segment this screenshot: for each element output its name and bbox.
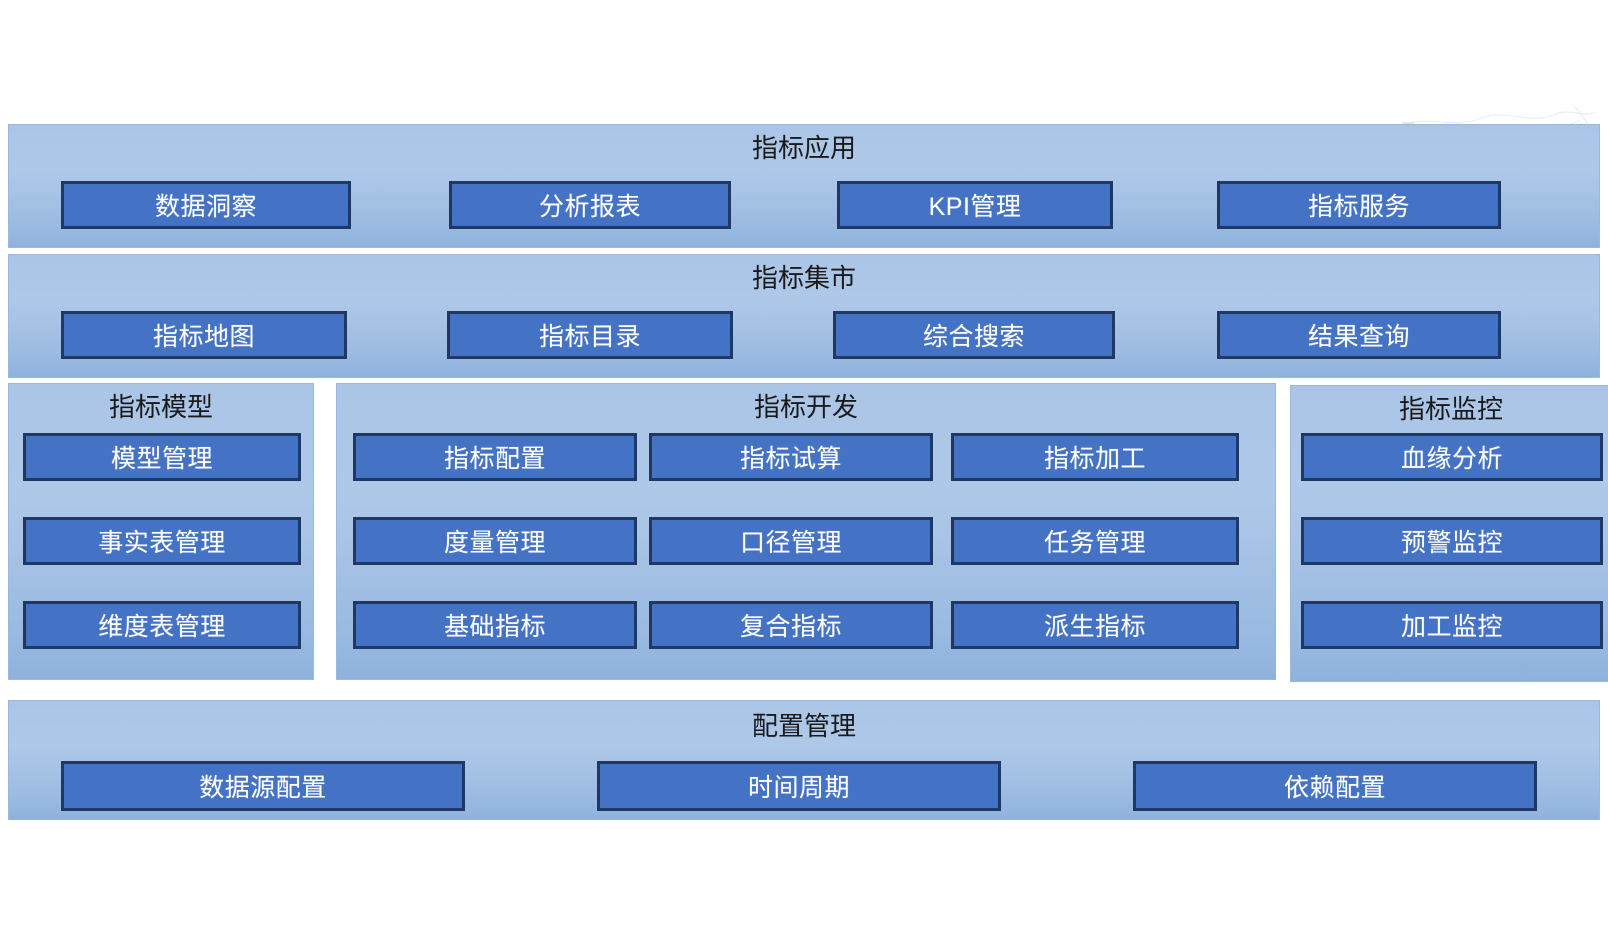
- app-item-analysis-report[interactable]: 分析报表: [449, 181, 731, 229]
- mart-item-result-query[interactable]: 结果查询: [1217, 311, 1501, 359]
- model-item-model-management[interactable]: 模型管理: [23, 433, 301, 481]
- layer-monitoring: 指标监控 血缘分析 预警监控 加工监控: [1290, 385, 1608, 682]
- dev-item-indicator-processing[interactable]: 指标加工: [951, 433, 1239, 481]
- dev-item-measure-management[interactable]: 度量管理: [353, 517, 637, 565]
- layer-mart-title: 指标集市: [9, 263, 1599, 293]
- app-item-indicator-service[interactable]: 指标服务: [1217, 181, 1501, 229]
- model-item-fact-table-management[interactable]: 事实表管理: [23, 517, 301, 565]
- layer-configuration-title: 配置管理: [9, 711, 1599, 741]
- layer-application-title: 指标应用: [9, 133, 1599, 163]
- dev-item-indicator-configuration[interactable]: 指标配置: [353, 433, 637, 481]
- dev-item-caliber-management[interactable]: 口径管理: [649, 517, 933, 565]
- mart-item-indicator-catalog[interactable]: 指标目录: [447, 311, 733, 359]
- dev-item-indicator-trial-calculation[interactable]: 指标试算: [649, 433, 933, 481]
- config-item-dependency-configuration[interactable]: 依赖配置: [1133, 761, 1537, 811]
- dev-item-basic-indicator[interactable]: 基础指标: [353, 601, 637, 649]
- config-item-time-period[interactable]: 时间周期: [597, 761, 1001, 811]
- mart-item-comprehensive-search[interactable]: 综合搜索: [833, 311, 1115, 359]
- architecture-diagram: 指标应用 数据洞察 分析报表 KPI管理 指标服务 指标集市 指标地图 指标目录…: [0, 0, 1608, 940]
- layer-model-title: 指标模型: [9, 392, 313, 422]
- layer-monitoring-title: 指标监控: [1291, 394, 1608, 424]
- layer-development: 指标开发 指标配置 指标试算 指标加工 度量管理 口径管理 任务管理 基础指标 …: [336, 383, 1276, 680]
- config-item-datasource-configuration[interactable]: 数据源配置: [61, 761, 465, 811]
- model-item-dimension-table-management[interactable]: 维度表管理: [23, 601, 301, 649]
- monitoring-item-processing-monitoring[interactable]: 加工监控: [1301, 601, 1603, 649]
- monitoring-item-alert-monitoring[interactable]: 预警监控: [1301, 517, 1603, 565]
- mart-item-indicator-map[interactable]: 指标地图: [61, 311, 347, 359]
- layer-development-title: 指标开发: [337, 392, 1275, 422]
- layer-model: 指标模型 模型管理 事实表管理 维度表管理: [8, 383, 314, 680]
- app-item-kpi-management[interactable]: KPI管理: [837, 181, 1113, 229]
- dev-item-composite-indicator[interactable]: 复合指标: [649, 601, 933, 649]
- dev-item-task-management[interactable]: 任务管理: [951, 517, 1239, 565]
- layer-mart: 指标集市 指标地图 指标目录 综合搜索 结果查询: [8, 254, 1600, 378]
- dev-item-derived-indicator[interactable]: 派生指标: [951, 601, 1239, 649]
- layer-application: 指标应用 数据洞察 分析报表 KPI管理 指标服务: [8, 124, 1600, 248]
- app-item-data-insight[interactable]: 数据洞察: [61, 181, 351, 229]
- monitoring-item-lineage-analysis[interactable]: 血缘分析: [1301, 433, 1603, 481]
- layer-configuration: 配置管理 数据源配置 时间周期 依赖配置: [8, 700, 1600, 820]
